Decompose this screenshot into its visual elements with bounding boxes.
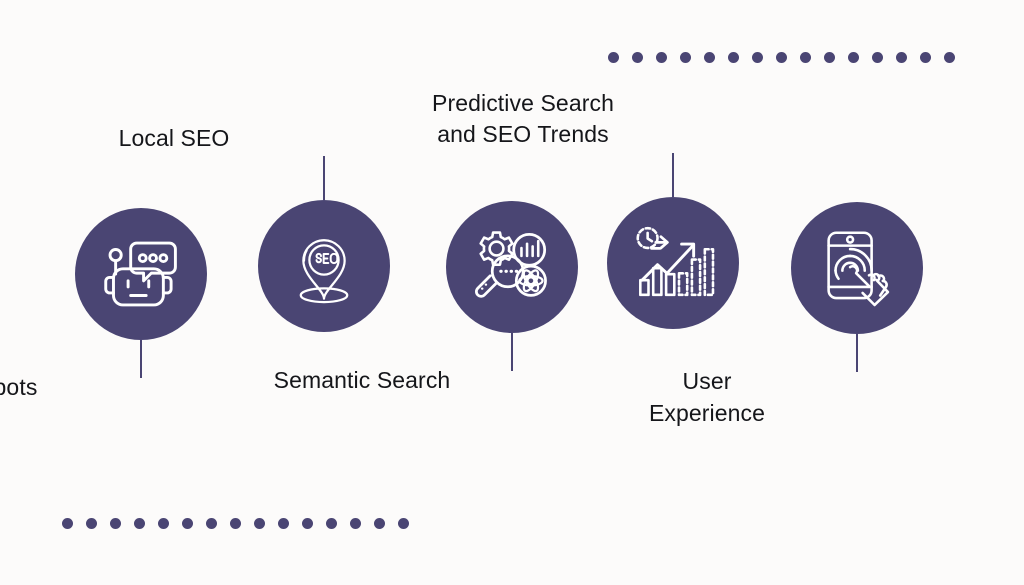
decorative-dot	[326, 518, 337, 529]
chatbots-circle[interactable]	[75, 208, 207, 340]
decorative-dot	[944, 52, 955, 63]
predictive-search-connector	[672, 153, 674, 197]
top-dot-row	[608, 52, 955, 63]
decorative-dot	[896, 52, 907, 63]
local-seo-circle[interactable]	[258, 200, 390, 332]
decorative-dot	[656, 52, 667, 63]
decorative-dot	[134, 518, 145, 529]
decorative-dot	[824, 52, 835, 63]
predictive-search-label: Predictive Search and SEO Trends	[373, 88, 673, 151]
semantic-search-label: Semantic Search	[212, 365, 512, 396]
chatbots-label: Chatbots	[0, 372, 141, 403]
infographic-canvas: Chatbots Local SEO	[0, 0, 1024, 585]
chatbot-icon	[98, 231, 184, 317]
decorative-dot	[278, 518, 289, 529]
decorative-dot	[800, 52, 811, 63]
bottom-dot-row	[62, 518, 409, 529]
decorative-dot	[350, 518, 361, 529]
decorative-dot	[182, 518, 193, 529]
decorative-dot	[62, 518, 73, 529]
decorative-dot	[776, 52, 787, 63]
decorative-dot	[230, 518, 241, 529]
predictive-search-circle[interactable]	[607, 197, 739, 329]
decorative-dot	[872, 52, 883, 63]
user-experience-circle[interactable]	[791, 202, 923, 334]
decorative-dot	[374, 518, 385, 529]
decorative-dot	[848, 52, 859, 63]
decorative-dot	[704, 52, 715, 63]
decorative-dot	[254, 518, 265, 529]
decorative-dot	[728, 52, 739, 63]
decorative-dot	[752, 52, 763, 63]
decorative-dot	[86, 518, 97, 529]
decorative-dot	[110, 518, 121, 529]
decorative-dot	[680, 52, 691, 63]
local-seo-connector	[323, 156, 325, 200]
decorative-dot	[206, 518, 217, 529]
semantic-search-circle[interactable]	[446, 201, 578, 333]
decorative-dot	[608, 52, 619, 63]
decorative-dot	[398, 518, 409, 529]
decorative-dot	[632, 52, 643, 63]
touch-phone-hand-icon	[814, 225, 900, 311]
decorative-dot	[920, 52, 931, 63]
map-pin-seo-icon	[281, 223, 367, 309]
decorative-dot	[158, 518, 169, 529]
decorative-dot	[302, 518, 313, 529]
magnifier-analytics-icon	[469, 224, 555, 310]
trend-chart-clock-icon	[630, 220, 716, 306]
user-experience-label: User Experience	[557, 366, 857, 429]
local-seo-label: Local SEO	[24, 123, 324, 154]
